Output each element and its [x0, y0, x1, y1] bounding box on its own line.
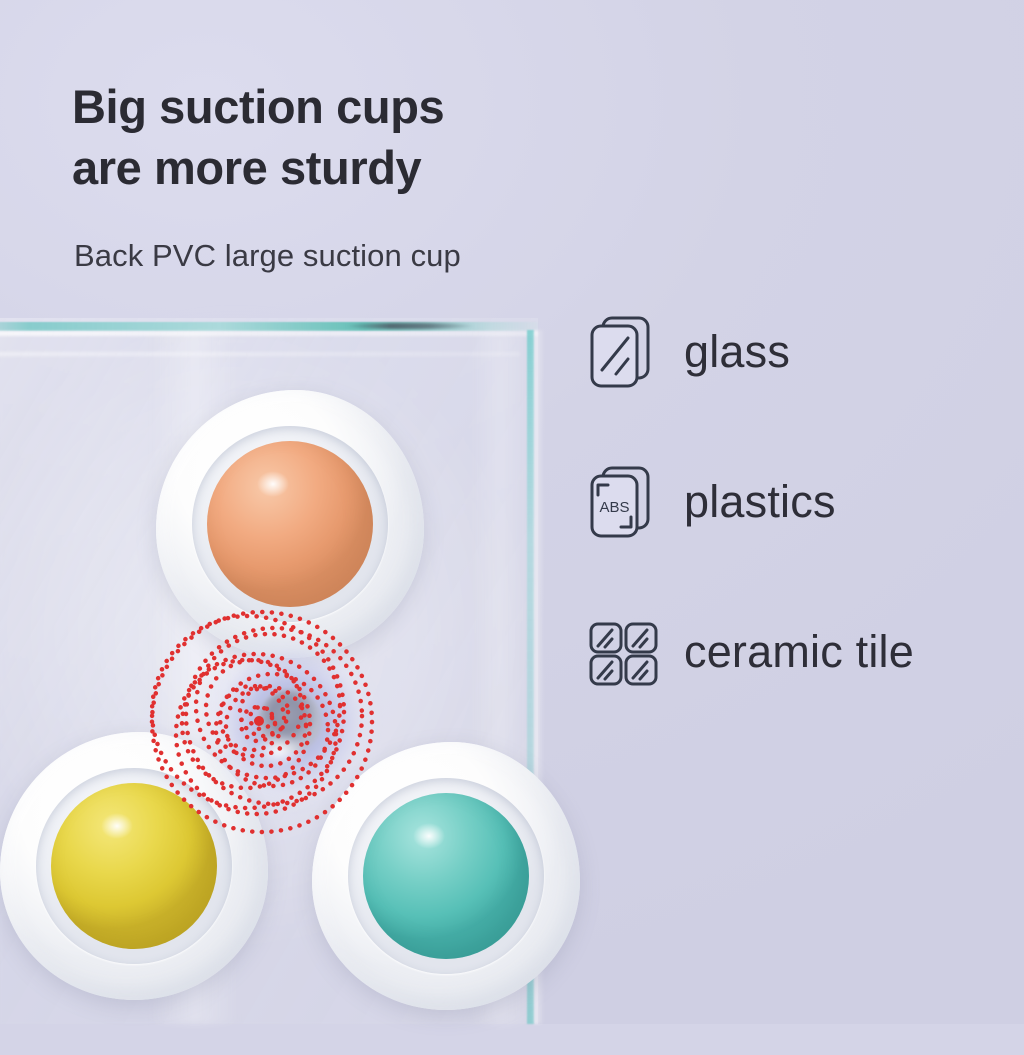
- feature-row-plastics: ABS plastics: [586, 462, 914, 542]
- page-title: Big suction cups are more sturdy: [72, 76, 444, 198]
- suction-spinner-toy: [0, 380, 660, 1040]
- headline-line-1: Big suction cups: [72, 76, 444, 137]
- glass-inner-reflection: [0, 352, 520, 356]
- spinner-hub-shine: [253, 735, 305, 767]
- spinner-hub: [197, 628, 383, 814]
- feature-row-ceramic-tile: ceramic tile: [586, 612, 914, 692]
- teal-ball: [363, 793, 529, 959]
- glass-top-shadow: [345, 323, 475, 329]
- subtitle: Back PVC large suction cup: [74, 238, 461, 274]
- feature-label-plastics: plastics: [684, 476, 836, 528]
- abs-icon-text: ABS: [599, 499, 629, 516]
- abs-sheet-icon: ABS: [586, 462, 662, 542]
- feature-label-ceramic-tile: ceramic tile: [684, 626, 914, 678]
- tile-grid-icon: [586, 612, 662, 692]
- surface-compatibility-list: glass ABS plastics: [586, 312, 914, 692]
- headline-line-2: are more sturdy: [72, 137, 444, 198]
- glass-top-highlight: [0, 331, 538, 336]
- glass-pane-icon: [586, 312, 662, 392]
- spinner-lobe-top: [156, 390, 424, 658]
- peach-ball: [207, 441, 373, 607]
- feature-row-glass: glass: [586, 312, 914, 392]
- feature-label-glass: glass: [684, 326, 790, 378]
- yellow-ball: [51, 783, 217, 949]
